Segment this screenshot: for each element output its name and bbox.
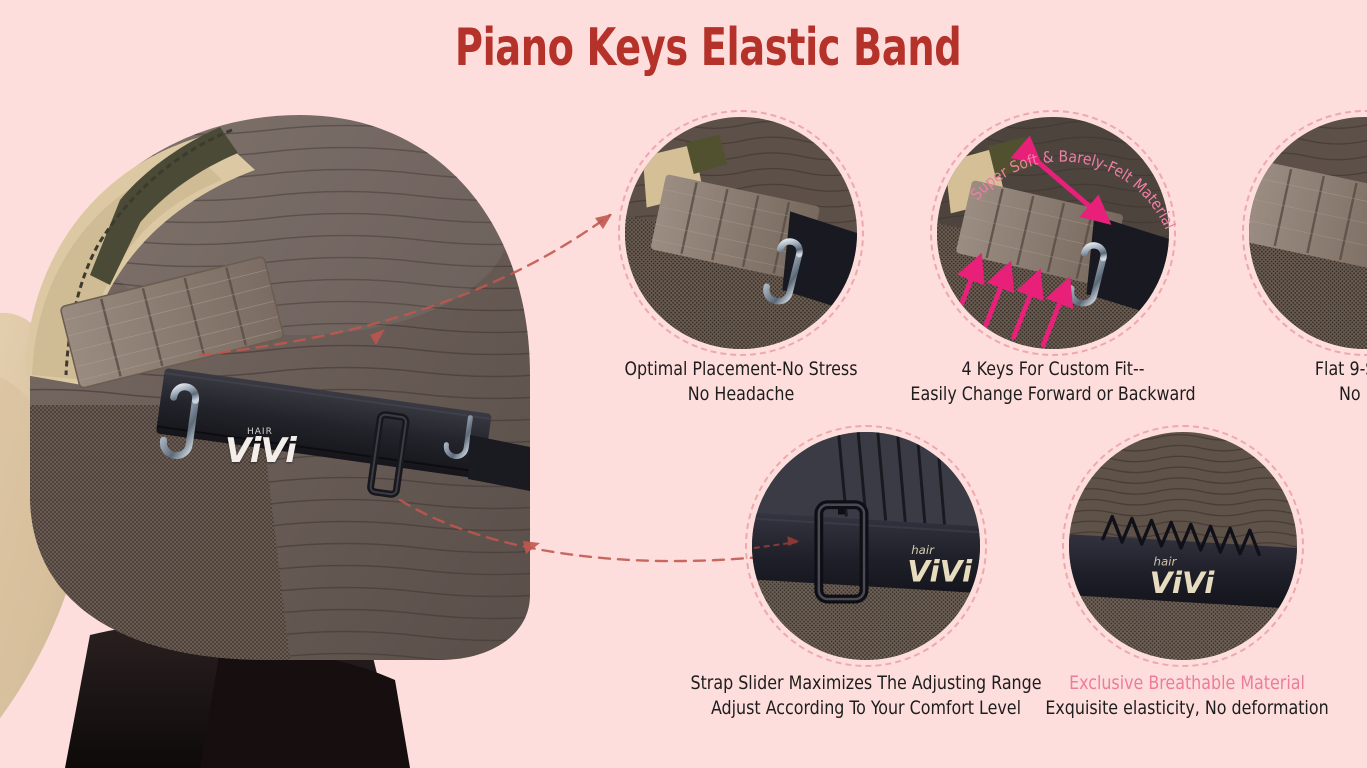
feature-panel-optimal-placement (618, 110, 864, 356)
page-title: Piano Keys Elastic Band (123, 18, 1244, 78)
panel-4-circle-frame: hair ViVi (745, 425, 987, 667)
caption-line: No Headache (597, 382, 885, 407)
infographic-canvas: Piano Keys Elastic Band (0, 0, 1367, 768)
elastic-band-placement-closeup (625, 117, 857, 349)
panel-1-caption: Optimal Placement-No Stress No Headache (597, 357, 885, 407)
wig-cap-side-view-photo: HAIR ViVi (0, 75, 530, 768)
panel-3-circle-frame (1242, 110, 1367, 356)
svg-text:ViVi: ViVi (907, 554, 973, 588)
panel-2-caption: 4 Keys For Custom Fit-- Easily Change Fo… (904, 357, 1202, 407)
caption-line: Flat 9-Shape (1216, 357, 1367, 382)
caption-line: Exclusive Breathable Material (1021, 671, 1354, 696)
panel-5-circle-frame: hair ViVi (1062, 425, 1304, 667)
panel-3-caption: Flat 9-Shape No Bul (1216, 357, 1367, 407)
caption-line: Exquisite elasticity, No deformation (1021, 696, 1354, 721)
strap-slider-closeup: hair ViVi (752, 432, 980, 660)
caption-line: Optimal Placement-No Stress (597, 357, 885, 382)
feature-panel-four-keys (930, 110, 1176, 356)
panel-5-caption: Exclusive Breathable Material Exquisite … (1021, 671, 1354, 721)
panel-1-circle-frame (618, 110, 864, 356)
caption-line: Strap Slider Maximizes The Adjusting Ran… (686, 671, 1047, 696)
caption-line: Easily Change Forward or Backward (904, 382, 1202, 407)
breathable-zigzag-stitch-closeup: hair ViVi (1069, 432, 1297, 660)
panel-2-circle-frame (930, 110, 1176, 356)
svg-text:ViVi: ViVi (1150, 566, 1216, 600)
four-keys-adjustable-closeup (937, 117, 1169, 349)
caption-line: No Bul (1216, 382, 1367, 407)
panel-4-caption: Strap Slider Maximizes The Adjusting Ran… (686, 671, 1047, 721)
flat-nine-shape-hook-closeup (1249, 117, 1367, 349)
feature-panel-strap-slider: hair ViVi (745, 425, 987, 667)
feature-panel-flat-nine-shape (1242, 110, 1367, 356)
feature-panel-breathable-material: hair ViVi (1062, 425, 1304, 667)
caption-line: Adjust According To Your Comfort Level (686, 696, 1047, 721)
caption-line: 4 Keys For Custom Fit-- (904, 357, 1202, 382)
